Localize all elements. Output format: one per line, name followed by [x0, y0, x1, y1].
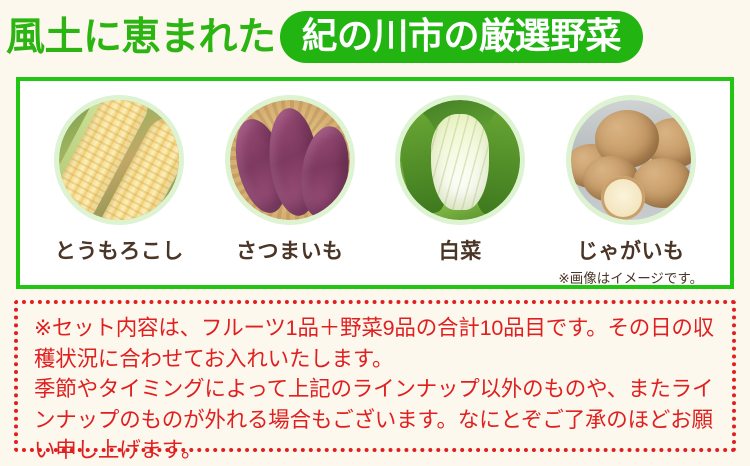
vegetable-showcase: とうもろこし さつまいも [16, 77, 734, 289]
napa-cabbage-photo-icon [395, 95, 525, 225]
sweet-potato-photo-icon [225, 95, 355, 225]
vegetable-label: じゃがいも [577, 235, 685, 265]
vegetable-label: 白菜 [439, 235, 482, 265]
notice-paragraph-2: 季節やタイミングによって上記のラインナップ以外のものや、またラインナップのものが… [34, 374, 718, 466]
vegetable-label: さつまいも [236, 235, 344, 265]
vegetable-item-napa-cabbage: 白菜 [378, 95, 543, 265]
set-contents-notice: ※セット内容は、フルーツ1品＋野菜9品の合計10品目です。その日の収穫状況に合わ… [14, 300, 736, 452]
page-header: 風土に恵まれた 紀の川市の厳選野菜 [0, 0, 750, 68]
image-disclaimer-note: ※画像はイメージです。 [558, 267, 703, 287]
corn-photo-icon [54, 95, 184, 225]
brand-badge: 紀の川市の厳選野菜 [280, 11, 644, 64]
potato-photo-icon [566, 95, 696, 225]
vegetable-item-corn: とうもろこし [37, 95, 202, 265]
promo-page: 風土に恵まれた 紀の川市の厳選野菜 とうもろこし [0, 0, 750, 465]
vegetable-label: とうもろこし [55, 235, 184, 265]
vegetable-item-sweet-potato: さつまいも [207, 95, 372, 265]
notice-paragraph-1: ※セット内容は、フルーツ1品＋野菜9品の合計10品目です。その日の収穫状況に合わ… [34, 313, 718, 374]
vegetable-item-potato: じゃがいも ※画像はイメージです。 [548, 95, 713, 287]
vegetable-list: とうもろこし さつまいも [20, 81, 730, 285]
page-title: 風土に恵まれた [6, 18, 276, 57]
